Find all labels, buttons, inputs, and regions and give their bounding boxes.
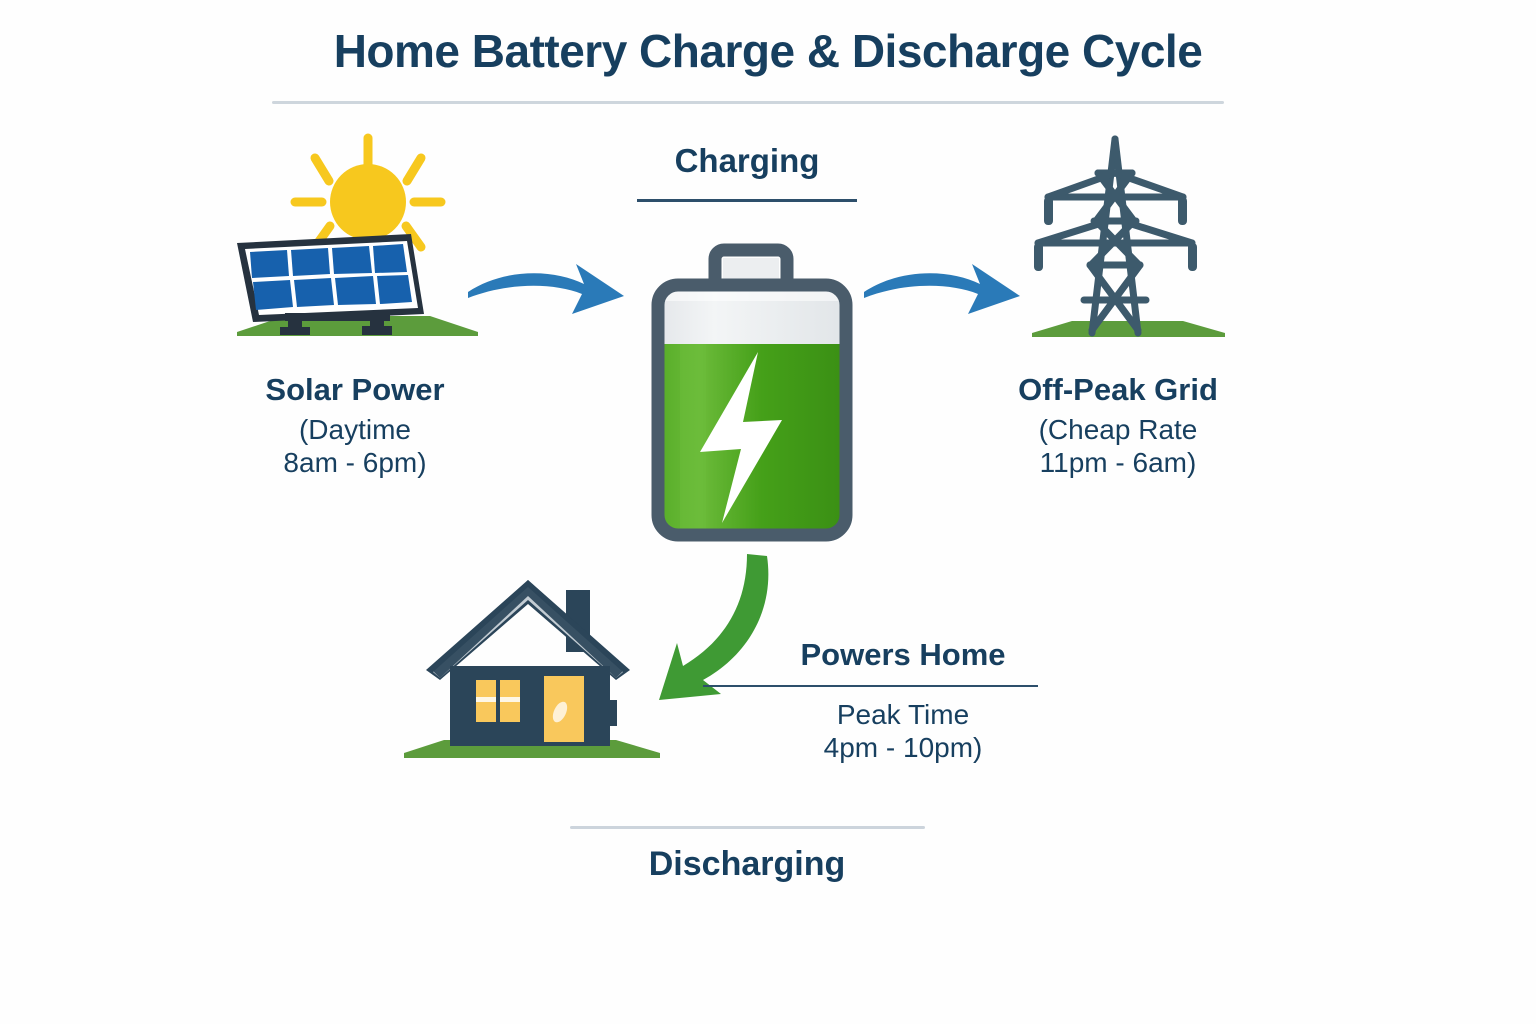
charging-divider xyxy=(637,199,857,202)
off-peak-grid-detail-2: 11pm - 6am) xyxy=(968,446,1268,479)
powers-home-label: Powers Home xyxy=(778,637,1028,673)
powers-home-detail: Peak Time 4pm - 10pm) xyxy=(778,698,1028,764)
curved-arrow-right-icon xyxy=(462,252,632,324)
battery-charging-icon xyxy=(630,240,875,555)
powers-home-divider xyxy=(703,685,1038,687)
title-divider xyxy=(272,101,1224,104)
solar-power-title: Solar Power xyxy=(205,372,505,409)
transmission-tower-icon xyxy=(1020,125,1235,355)
solar-panel-with-sun-icon xyxy=(225,130,490,355)
solar-power-detail-1: (Daytime xyxy=(205,413,505,446)
page-title: Home Battery Charge & Discharge Cycle xyxy=(0,24,1536,78)
off-peak-grid-caption: Off-Peak Grid (Cheap Rate 11pm - 6am) xyxy=(968,372,1268,479)
off-peak-grid-title: Off-Peak Grid xyxy=(968,372,1268,409)
solar-power-detail-2: 8am - 6pm) xyxy=(205,446,505,479)
discharging-divider xyxy=(570,826,925,829)
charging-section-label: Charging xyxy=(597,142,897,180)
discharging-section-label: Discharging xyxy=(572,845,922,884)
powers-home-detail-1: Peak Time xyxy=(778,698,1028,731)
off-peak-grid-detail-1: (Cheap Rate xyxy=(968,413,1268,446)
infographic-canvas: Home Battery Charge & Discharge Cycle Ch… xyxy=(0,0,1536,1024)
solar-power-caption: Solar Power (Daytime 8am - 6pm) xyxy=(205,372,505,479)
powers-home-detail-2: 4pm - 10pm) xyxy=(778,731,1028,764)
curved-arrow-right-icon xyxy=(858,252,1028,324)
house-icon xyxy=(398,560,678,772)
